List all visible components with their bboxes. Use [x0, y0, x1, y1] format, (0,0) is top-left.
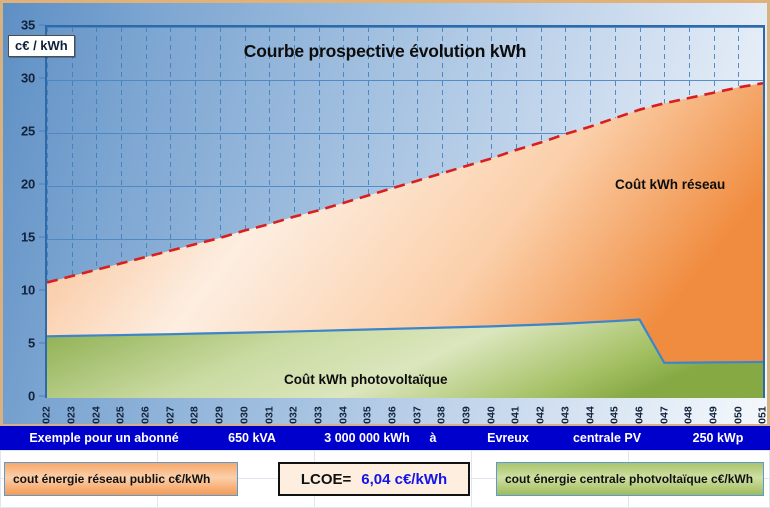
x-tick-label: 2050: [731, 400, 745, 424]
y-tick-label: 10: [21, 283, 35, 298]
y-tick-label: 35: [21, 18, 35, 33]
x-tick-label: 2028: [188, 400, 202, 424]
info-bar-cell: Evreux: [468, 431, 548, 445]
x-tick-label: 2051: [756, 400, 770, 424]
x-tick-label: 2037: [410, 400, 424, 424]
y-axis-label-badge: c€ / kWh: [8, 35, 75, 57]
info-bar-cell: Exemple pour un abonné: [4, 431, 204, 445]
x-tick-label: 2047: [657, 400, 671, 424]
y-tick-label: 30: [21, 71, 35, 86]
x-tick-label: 2024: [89, 400, 103, 424]
chart-screenshot: 05101520253035: [0, 0, 770, 508]
legend-strip: cout énergie réseau public c€/kWh LCOE= …: [0, 450, 770, 508]
x-tick-label: 2023: [65, 400, 79, 424]
plot-svg: [47, 27, 763, 398]
x-tick-label: 2035: [361, 400, 375, 424]
x-tick-label: 2042: [534, 400, 548, 424]
y-tick-label: 15: [21, 230, 35, 245]
legend-network-cost[interactable]: cout énergie réseau public c€/kWh: [4, 462, 238, 496]
y-tick-label: 20: [21, 177, 35, 192]
x-tick-label: 2031: [262, 400, 276, 424]
x-tick-label: 2044: [583, 400, 597, 424]
plot-area: [45, 25, 765, 398]
y-tick-label: 0: [28, 389, 35, 404]
x-tick-label: 2039: [460, 400, 474, 424]
x-tick-label: 2043: [558, 400, 572, 424]
info-bar: Exemple pour un abonné650 kVA3 000 000 k…: [0, 424, 770, 450]
x-tick-label: 2046: [633, 400, 647, 424]
legend-network-cost-label: cout énergie réseau public c€/kWh: [13, 472, 210, 486]
chart-frame: 05101520253035: [0, 0, 770, 424]
info-bar-cell: 250 kWp: [678, 431, 758, 445]
x-tick-label: 2022: [40, 400, 54, 424]
x-tick-label: 2033: [312, 400, 326, 424]
legend-pv-cost-label: cout énergie centrale photvoltaïque c€/k…: [505, 472, 753, 486]
info-bar-cell: 650 kVA: [192, 431, 312, 445]
x-tick-label: 2027: [163, 400, 177, 424]
page-title: Courbe prospective évolution kWh: [3, 41, 767, 62]
lcoe-value: 6,04 c€/kWh: [361, 471, 447, 488]
x-tick-label: 2032: [287, 400, 301, 424]
x-tick-label: 2030: [238, 400, 252, 424]
x-tick-label: 2038: [435, 400, 449, 424]
x-tick-label: 2034: [336, 400, 350, 424]
x-tick-label: 2049: [707, 400, 721, 424]
legend-pv-cost[interactable]: cout énergie centrale photvoltaïque c€/k…: [496, 462, 764, 496]
x-tick-label: 2048: [682, 400, 696, 424]
network-series-label: Coût kWh réseau: [615, 177, 725, 192]
lcoe-key-label: LCOE=: [301, 471, 351, 488]
x-tick-label: 2025: [114, 400, 128, 424]
y-tick-label: 5: [28, 336, 35, 351]
x-tick-label: 2029: [213, 400, 227, 424]
pv-series-label: Coût kWh photovoltaïque: [284, 372, 447, 387]
x-tick-label: 2026: [139, 400, 153, 424]
y-tick-label: 25: [21, 124, 35, 139]
info-bar-cell: centrale PV: [562, 431, 652, 445]
y-axis: 05101520253035: [3, 3, 45, 424]
x-tick-label: 2036: [386, 400, 400, 424]
info-bar-cell: 3 000 000 kWh: [312, 431, 422, 445]
x-tick-label: 2040: [484, 400, 498, 424]
x-axis: 2022202320242025202620272028202920302031…: [45, 400, 765, 424]
x-tick-label: 2041: [509, 400, 523, 424]
x-tick-label: 2045: [608, 400, 622, 424]
lcoe-box[interactable]: LCOE= 6,04 c€/kWh: [278, 462, 470, 496]
info-bar-cell: à: [418, 431, 448, 445]
